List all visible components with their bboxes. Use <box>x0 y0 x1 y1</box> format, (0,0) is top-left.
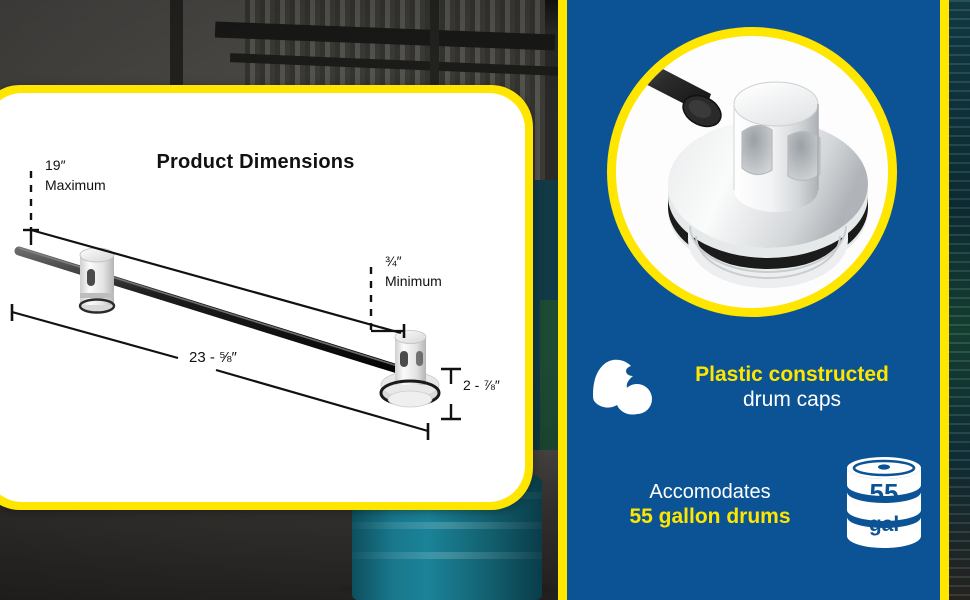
feature-plastic-line1: Plastic constructed <box>657 363 927 388</box>
dimension-label-overall-length: 23 - ⅝″ <box>189 349 237 366</box>
background-right-shelving <box>948 0 970 600</box>
feature-plastic-line2: drum caps <box>657 388 927 413</box>
infographic-root: Product Dimensions <box>0 0 970 600</box>
drum-cap-product-illustration <box>616 36 888 308</box>
dimension-cap-diameter-marks <box>441 369 461 419</box>
dimension-qualifier-min: Minimum <box>385 271 442 291</box>
dimension-label-min-height: ¾″ Minimum <box>385 251 442 292</box>
dimension-overall-length-marks <box>12 304 428 440</box>
drum-icon-label-top: 55 <box>870 478 899 508</box>
feature-plastic-text: Plastic constructed drum caps <box>657 363 927 413</box>
vented-collar <box>734 82 820 212</box>
feature-plastic-constructed: Plastic constructed drum caps <box>587 352 927 423</box>
yellow-divider-right <box>940 0 949 600</box>
feature-drums-line1: Accomodates <box>587 481 833 505</box>
features-panel: Plastic constructed drum caps Accomodate… <box>567 0 940 600</box>
dimension-qualifier-max: Maximum <box>45 175 106 195</box>
product-dimensions-card-inner: Product Dimensions <box>0 93 525 502</box>
yellow-divider-left <box>558 0 567 600</box>
hero-photo-ring <box>607 27 897 317</box>
dimension-value-max: 19″ <box>45 155 106 175</box>
feature-drums-text: Accomodates 55 gallon drums <box>587 481 841 529</box>
feature-accommodates-drums: Accomodates 55 gallon drums 55 gal <box>587 455 927 556</box>
dimension-value-min: ¾″ <box>385 251 442 271</box>
black-rod-photo <box>626 54 726 133</box>
feature-drums-line2: 55 gallon drums <box>587 505 833 530</box>
dimension-label-max-height: 19″ Maximum <box>45 155 106 196</box>
white-drum-cap-small <box>80 248 114 313</box>
flexing-arm-icon <box>587 352 657 423</box>
drum-icon-label-bottom: gal <box>869 513 899 536</box>
dimension-label-cap-diameter: 2 - ⅞″ <box>463 377 500 393</box>
hero-product-photo <box>616 36 888 308</box>
product-dimensions-card: Product Dimensions <box>0 85 533 510</box>
drum-icon: 55 gal <box>841 455 927 556</box>
